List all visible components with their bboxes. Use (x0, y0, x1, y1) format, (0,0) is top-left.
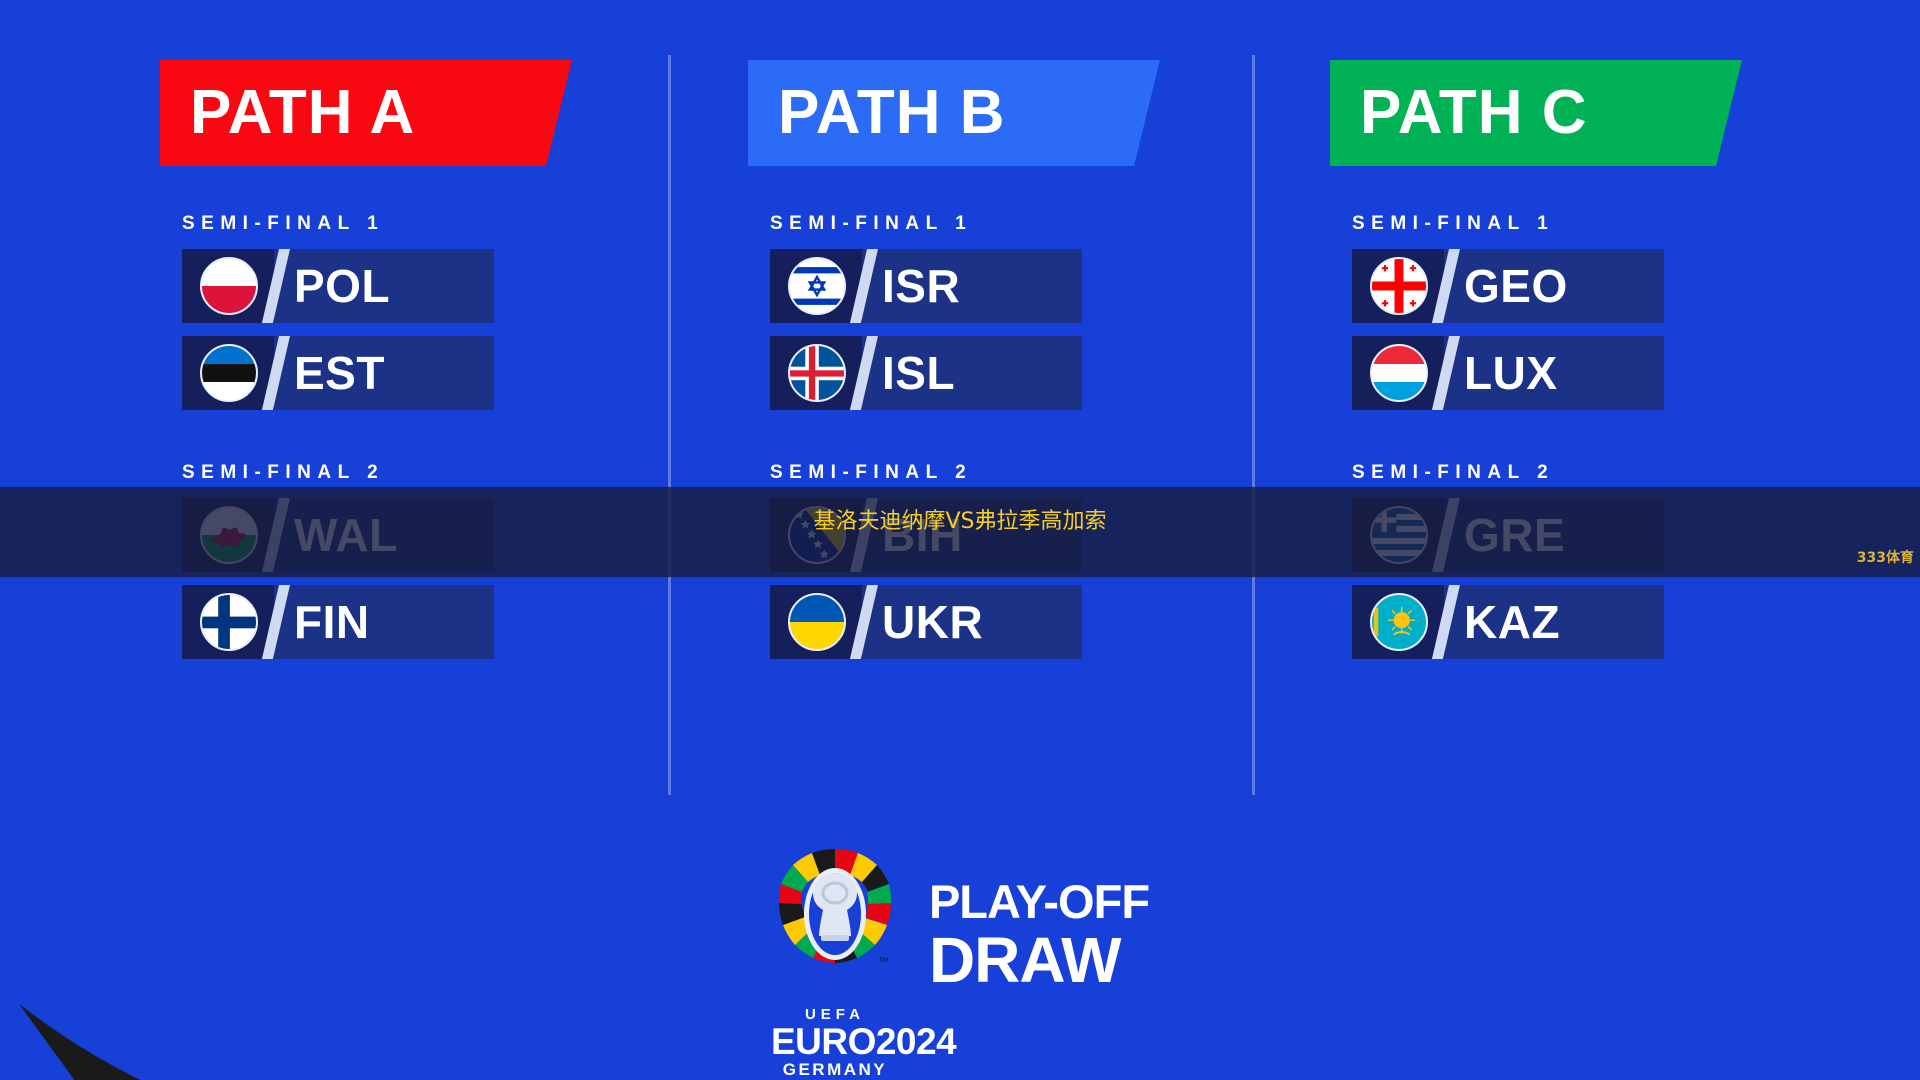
team-code: POL (294, 263, 390, 309)
path-c-semifinal-2-label: SEMI-FINAL 2 (1352, 462, 1750, 484)
kazakhstan-flag (1370, 593, 1428, 651)
team-row[interactable]: ISL (770, 336, 1082, 410)
team-code: EST (294, 350, 385, 396)
title-line-2: DRAW (929, 927, 1149, 994)
team-code: LUX (1464, 350, 1558, 396)
path-b-semifinal-1-label: SEMI-FINAL 1 (770, 213, 1168, 235)
path-a-semifinal-2-label: SEMI-FINAL 2 (182, 462, 580, 484)
overlay-banner: 基洛夫迪纳摩VS弗拉季高加索 333体育 (0, 487, 1920, 577)
watermark-text: 333体育 (1857, 547, 1914, 567)
iceland-flag (788, 344, 846, 402)
path-column-b: PATH B SEMI-FINAL 1 ISR I (748, 60, 1168, 672)
path-a-banner: PATH A (160, 60, 572, 166)
ukraine-flag (788, 593, 846, 651)
team-row[interactable]: FIN (182, 585, 494, 659)
team-row[interactable]: ISR (770, 249, 1082, 323)
israel-flag (788, 257, 846, 315)
georgia-flag (1370, 257, 1428, 315)
overlay-caption-text: 基洛夫迪纳摩VS弗拉季高加索 (0, 503, 1920, 535)
poland-flag (200, 257, 258, 315)
team-code: ISL (882, 350, 955, 396)
path-b-label: PATH B (778, 82, 1006, 144)
team-code: UKR (882, 599, 983, 645)
title-line-1: PLAY-OFF (929, 878, 1149, 927)
team-row[interactable]: UKR (770, 585, 1082, 659)
logo-germany-text: GERMANY (771, 1060, 899, 1080)
team-row[interactable]: GEO (1352, 249, 1664, 323)
team-row[interactable]: POL (182, 249, 494, 323)
team-code: ISR (882, 263, 960, 309)
logo-euro-text: EURO2024 (771, 1023, 899, 1060)
path-a-label: PATH A (190, 82, 415, 144)
playoff-draw-title: PLAY-OFF DRAW (929, 878, 1149, 1023)
path-c-banner: PATH C (1330, 60, 1742, 166)
euro-2024-logo: ™ UEFA EURO2024 GERMANY (771, 843, 899, 1058)
estonia-flag (200, 344, 258, 402)
luxembourg-flag (1370, 344, 1428, 402)
path-b-semifinal-2-label: SEMI-FINAL 2 (770, 462, 1168, 484)
path-c-semifinal-1-label: SEMI-FINAL 1 (1352, 213, 1750, 235)
team-row[interactable]: KAZ (1352, 585, 1664, 659)
path-column-a: PATH A SEMI-FINAL 1 POL EST SEMI-FINAL 2 (160, 60, 580, 672)
path-b-banner: PATH B (748, 60, 1160, 166)
euro-trophy-icon: ™ (771, 843, 899, 998)
team-row[interactable]: LUX (1352, 336, 1664, 410)
team-code: GEO (1464, 263, 1568, 309)
path-column-c: PATH C SEMI-FINAL 1 GEO (1330, 60, 1750, 672)
footer-branding: ™ UEFA EURO2024 GERMANY PLAY-OFF DRAW (0, 843, 1920, 1058)
finland-flag (200, 593, 258, 651)
team-code: FIN (294, 599, 370, 645)
svg-text:™: ™ (878, 956, 889, 968)
team-row[interactable]: EST (182, 336, 494, 410)
path-c-label: PATH C (1360, 82, 1588, 144)
path-a-semifinal-1-label: SEMI-FINAL 1 (182, 213, 580, 235)
team-code: KAZ (1464, 599, 1560, 645)
